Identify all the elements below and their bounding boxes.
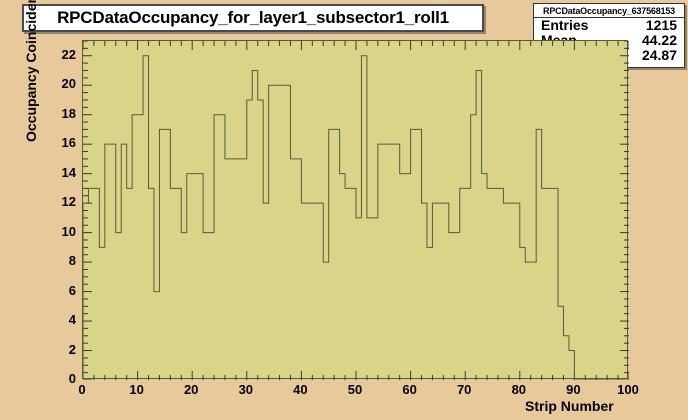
x-tick-label: 30: [229, 382, 263, 397]
y-tick-label: 8: [50, 253, 76, 268]
y-tick-label: 22: [50, 47, 76, 62]
y-tick-label: 20: [50, 76, 76, 91]
histogram-outline: [83, 56, 629, 380]
x-tick-label: 20: [174, 382, 208, 397]
x-tick-label: 0: [65, 382, 99, 397]
stats-value-mean: 44.22: [642, 33, 677, 48]
stats-value-rms: 24.87: [642, 48, 677, 63]
x-tick-label: 100: [611, 382, 645, 397]
x-tick-label: 60: [393, 382, 427, 397]
x-tick-label: 50: [338, 382, 372, 397]
page-title: RPCDataOccupancy_for_layer1_subsector1_r…: [57, 8, 449, 28]
stats-value-entries: 1215: [646, 18, 677, 33]
histogram-svg: [83, 41, 629, 380]
x-axis-title: Strip Number: [525, 398, 614, 414]
chart-title-box: RPCDataOccupancy_for_layer1_subsector1_r…: [22, 4, 484, 32]
y-axis-title: Occupancy Coincidences: [23, 0, 39, 142]
chart-canvas: RPCDataOccupancy_for_layer1_subsector1_r…: [0, 0, 688, 420]
x-tick-label: 80: [502, 382, 536, 397]
y-tick-label: 4: [50, 312, 76, 327]
y-axis-title-wrap: Occupancy Coincidences: [26, 50, 46, 350]
x-tick-label: 40: [283, 382, 317, 397]
y-tick-label: 16: [50, 135, 76, 150]
x-tick-label: 90: [556, 382, 590, 397]
y-tick-label: 10: [50, 224, 76, 239]
x-tick-label: 70: [447, 382, 481, 397]
y-tick-label: 2: [50, 342, 76, 357]
plot-area: [82, 40, 628, 379]
stats-histogram-name: RPCDataOccupancy_637568153: [534, 4, 684, 18]
x-tick-label: 10: [120, 382, 154, 397]
stats-row-entries: Entries 1215: [534, 18, 684, 33]
y-tick-label: 6: [50, 283, 76, 298]
stats-label-entries: Entries: [541, 18, 588, 33]
y-tick-label: 12: [50, 194, 76, 209]
y-tick-label: 18: [50, 106, 76, 121]
y-tick-label: 14: [50, 165, 76, 180]
